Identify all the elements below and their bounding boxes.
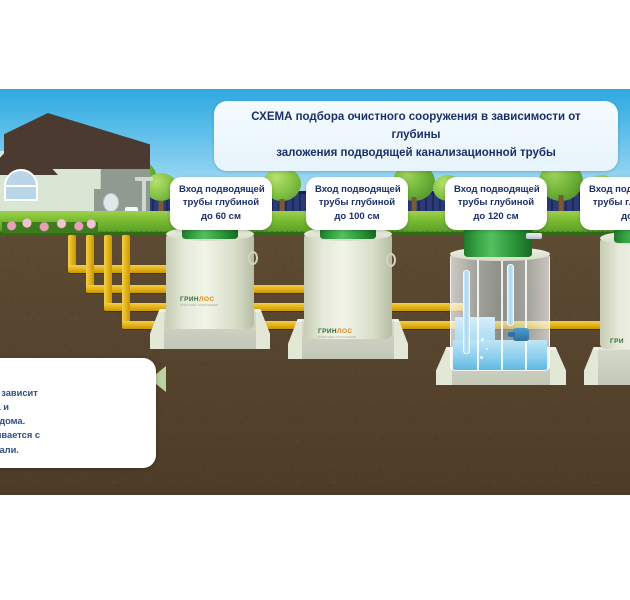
info-box-line-5: огонный магистрали. xyxy=(0,443,144,457)
info-box-line-3: о сооружения от дома. xyxy=(0,414,144,428)
info-box-line-2: гистрали из дома и xyxy=(0,400,144,414)
top-white-margin xyxy=(0,0,630,89)
unit-1-logo-green: ГРИН xyxy=(180,296,199,303)
callout-depth-100: Вход подводящей трубы глубиной до 100 см xyxy=(306,177,408,230)
callout-depth-140: Вход подводящей трубы глубиной до 1 xyxy=(580,177,630,230)
unit-3-chamber-wall-3 xyxy=(525,254,527,370)
callout-3-line-3: до 120 см xyxy=(454,210,538,223)
unit-2-logo-sub: ОЧИСТНЫЕ СООРУЖЕНИЯ xyxy=(318,337,356,340)
unit-3-bubble-3 xyxy=(480,356,483,359)
info-box: ГРИНЛОС дводящей трубы зависит гистрали … xyxy=(0,358,156,468)
unit-4-base-slab xyxy=(584,347,630,385)
pipe-drop-3 xyxy=(104,235,112,309)
unit-1-logo: ГРИНЛОС ОЧИСТНЫЕ СООРУЖЕНИЯ xyxy=(180,297,218,307)
unit-2-body xyxy=(304,233,392,339)
unit-3-chamber-wall-1 xyxy=(477,254,479,370)
unit-3-glass-body xyxy=(450,253,550,371)
info-box-line-1: дводящей трубы зависит xyxy=(0,386,144,400)
unit-2-logo-orange: ЛОС xyxy=(337,328,353,335)
pipe-drop-4 xyxy=(122,235,130,327)
unit-2-logo-green: ГРИН xyxy=(318,328,337,335)
flower-bed xyxy=(2,215,98,233)
infographic-root: ГРИНЛОС ОЧИСТНЫЕ СООРУЖЕНИЯ ГРИНЛОС ОЧИС… xyxy=(0,0,630,600)
callout-depth-60: Вход подводящей трубы глубиной до 60 см xyxy=(170,177,272,230)
callout-3-line-1: Вход подводящей xyxy=(454,183,538,196)
callout-1-line-3: до 60 см xyxy=(179,210,263,223)
title-line-2: заложения подводящей канализационной тру… xyxy=(228,145,604,163)
unit-1-logo-sub: ОЧИСТНЫЕ СООРУЖЕНИЯ xyxy=(180,305,218,308)
unit-1-body xyxy=(166,233,254,329)
callout-1-line-2: трубы глубиной xyxy=(179,196,263,209)
callout-3-line-2: трубы глубиной xyxy=(454,196,538,209)
unit-3-bubble-1 xyxy=(481,338,484,341)
bottom-white-margin xyxy=(0,495,630,600)
unit-2-lug xyxy=(386,253,396,267)
unit-1-logo-orange: ЛОС xyxy=(199,296,215,303)
unit-3-outlet-fitting xyxy=(526,233,542,239)
callout-2-line-2: трубы глубиной xyxy=(315,196,399,209)
callout-2-line-3: до 100 см xyxy=(315,210,399,223)
callout-2-line-1: Вход подводящей xyxy=(315,183,399,196)
unit-3-chamber-wall-2 xyxy=(501,254,503,370)
callout-4-line-2: трубы глубиной xyxy=(589,196,630,209)
unit-3-bubble-2 xyxy=(486,348,488,350)
title-banner: СХЕМА подбора очистного сооружения в зав… xyxy=(214,101,618,171)
unit-3-airlift-tube-1 xyxy=(463,270,470,354)
callout-1-line-1: Вход подводящей xyxy=(179,183,263,196)
unit-4-logo-green: ГРИ xyxy=(610,338,624,345)
unit-3-pump xyxy=(513,328,529,341)
unit-2-logo: ГРИНЛОС ОЧИСТНЫЕ СООРУЖЕНИЯ xyxy=(318,329,356,339)
unit-1-lug xyxy=(248,251,258,265)
unit-4-logo: ГРИ xyxy=(610,339,624,346)
pipe-drop-2 xyxy=(86,235,94,291)
unit-4-body xyxy=(600,237,630,349)
info-box-line-4: страль прокладывается с xyxy=(0,428,144,442)
mirror-icon xyxy=(103,193,119,212)
callout-4-line-1: Вход подводящей xyxy=(589,183,630,196)
callout-4-line-3: до 1 xyxy=(589,210,630,223)
info-box-brand: ГРИНЛОС xyxy=(0,368,144,380)
title-line-1: СХЕМА подбора очистного сооружения в зав… xyxy=(228,109,604,145)
callout-depth-120: Вход подводящей трубы глубиной до 120 см xyxy=(445,177,547,230)
house-window-upper xyxy=(4,185,38,201)
unit-3-airlift-tube-2 xyxy=(507,264,514,326)
